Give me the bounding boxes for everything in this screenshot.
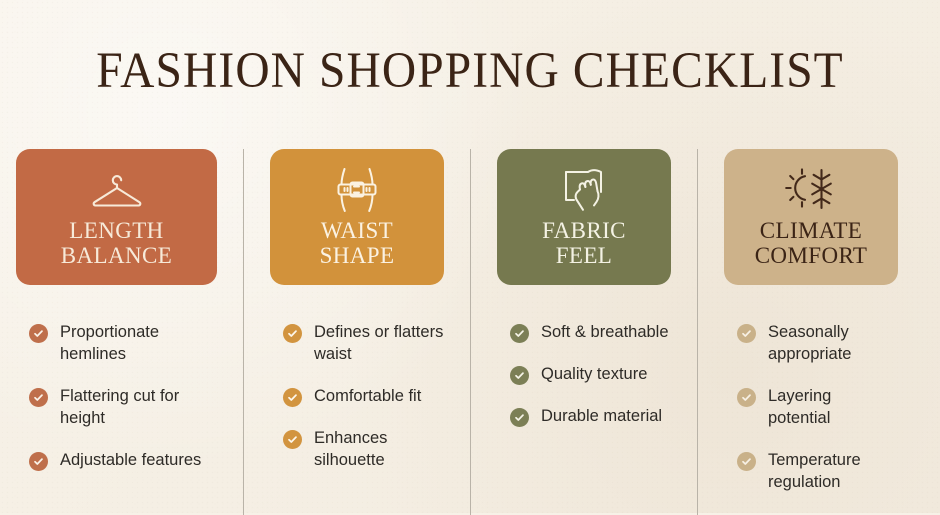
check-icon [737, 452, 756, 471]
list-item[interactable]: Enhances silhouette [283, 427, 444, 471]
page-title: FASHION SHOPPING CHECKLIST [33, 42, 907, 100]
list-item[interactable]: Defines or flatters waist [283, 321, 444, 365]
list-item[interactable]: Soft & breathable [510, 321, 671, 343]
checklist-column-fabric-feel: FABRIC FEEL Soft & breathable Quality te… [470, 149, 697, 513]
card-title-line1: LENGTH [61, 218, 172, 243]
checklist-column-waist-shape: WAIST SHAPE Defines or flatters waist Co… [243, 149, 470, 513]
check-icon [29, 452, 48, 471]
list-item[interactable]: Proportionate hemlines [29, 321, 217, 365]
card-title-line2: COMFORT [755, 243, 868, 268]
card-title-line1: CLIMATE [755, 218, 868, 243]
list-item-label: Proportionate hemlines [60, 321, 217, 365]
list-item[interactable]: Durable material [510, 405, 671, 427]
category-card-length-balance[interactable]: LENGTH BALANCE [16, 149, 217, 285]
list-item-label: Quality texture [541, 363, 647, 385]
sun-snowflake-icon [780, 166, 842, 214]
check-icon [283, 388, 302, 407]
checklist-columns: LENGTH BALANCE Proportionate hemlines Fl… [16, 149, 924, 513]
list-item-label: Layering potential [768, 385, 898, 429]
check-icon [510, 408, 529, 427]
belt-icon [329, 166, 385, 214]
card-title-line2: FEEL [542, 243, 626, 268]
checklist-items: Soft & breathable Quality texture Durabl… [497, 321, 671, 427]
category-card-fabric-feel[interactable]: FABRIC FEEL [497, 149, 671, 285]
checklist-column-length-balance: LENGTH BALANCE Proportionate hemlines Fl… [16, 149, 243, 513]
list-item[interactable]: Seasonally appropriate [737, 321, 898, 365]
list-item-label: Flattering cut for height [60, 385, 217, 429]
list-item-label: Temperature regulation [768, 449, 898, 493]
list-item-label: Adjustable features [60, 449, 201, 471]
list-item-label: Comfortable fit [314, 385, 421, 407]
checklist-items: Proportionate hemlines Flattering cut fo… [16, 321, 217, 471]
category-card-climate-comfort[interactable]: CLIMATE COMFORT [724, 149, 898, 285]
list-item[interactable]: Temperature regulation [737, 449, 898, 493]
check-icon [283, 430, 302, 449]
list-item-label: Soft & breathable [541, 321, 669, 343]
list-item[interactable]: Flattering cut for height [29, 385, 217, 429]
check-icon [510, 324, 529, 343]
checklist-items: Seasonally appropriate Layering potentia… [724, 321, 898, 493]
check-icon [283, 324, 302, 343]
card-title-line1: FABRIC [542, 218, 626, 243]
hand-fabric-icon [558, 166, 610, 214]
check-icon [29, 324, 48, 343]
check-icon [510, 366, 529, 385]
category-card-waist-shape[interactable]: WAIST SHAPE [270, 149, 444, 285]
list-item-label: Seasonally appropriate [768, 321, 898, 365]
list-item[interactable]: Comfortable fit [283, 385, 444, 407]
card-title-line2: BALANCE [61, 243, 172, 268]
list-item-label: Defines or flatters waist [314, 321, 444, 365]
list-item[interactable]: Layering potential [737, 385, 898, 429]
list-item-label: Enhances silhouette [314, 427, 444, 471]
check-icon [737, 388, 756, 407]
list-item[interactable]: Adjustable features [29, 449, 217, 471]
checklist-column-climate-comfort: CLIMATE COMFORT Seasonally appropriate L… [697, 149, 924, 513]
card-title-line2: SHAPE [320, 243, 395, 268]
check-icon [29, 388, 48, 407]
clothes-hanger-icon [89, 166, 145, 214]
check-icon [737, 324, 756, 343]
checklist-items: Defines or flatters waist Comfortable fi… [270, 321, 444, 471]
list-item[interactable]: Quality texture [510, 363, 671, 385]
card-title-line1: WAIST [320, 218, 395, 243]
list-item-label: Durable material [541, 405, 662, 427]
